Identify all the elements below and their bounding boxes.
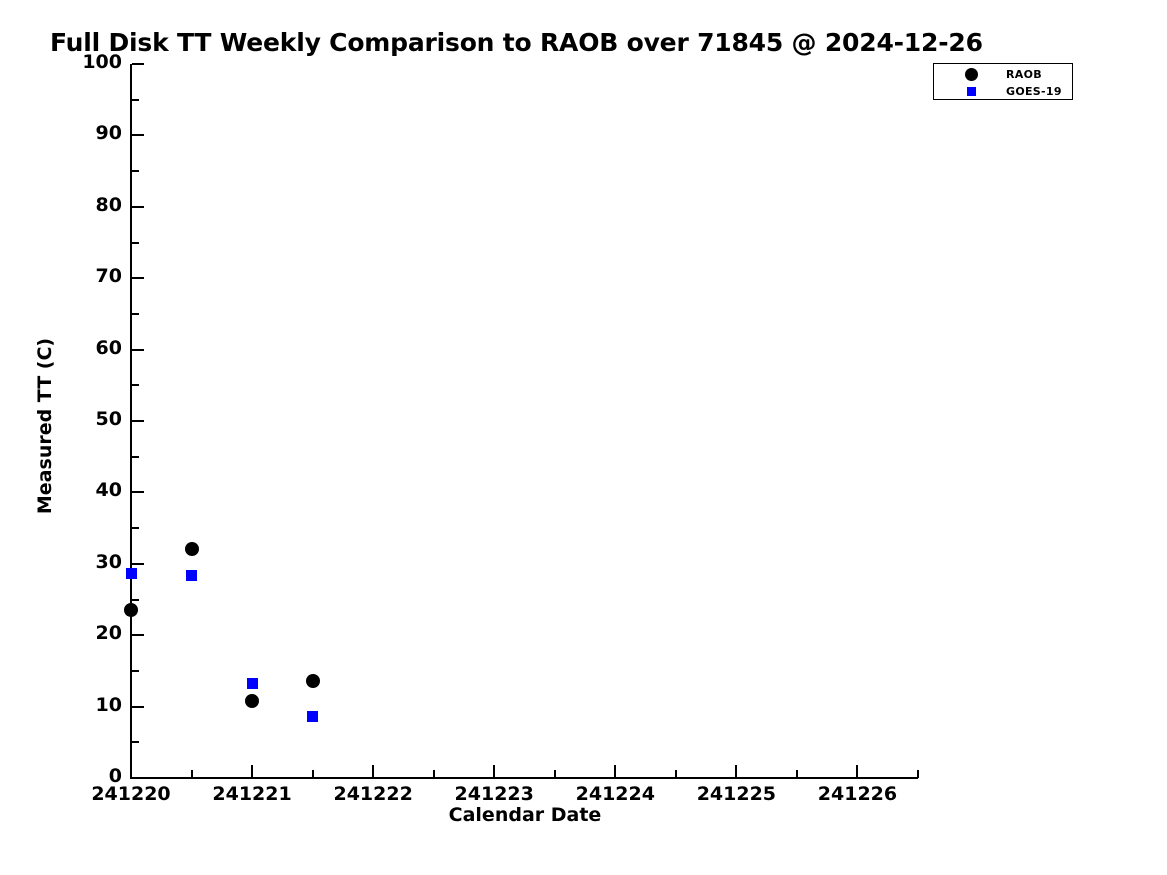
- y-tick-label: 90: [60, 122, 122, 144]
- black-circle-marker-icon: [962, 67, 980, 83]
- x-tick-label: 241223: [424, 783, 564, 805]
- x-axis-label: Calendar Date: [0, 804, 1050, 826]
- x-tick-label: 241225: [666, 783, 806, 805]
- legend-entry[interactable]: RAOB: [934, 67, 1072, 83]
- legend-label: RAOB: [1006, 68, 1042, 81]
- y-tick-label: 30: [60, 551, 122, 573]
- data-point-raob: [124, 603, 138, 617]
- x-tick-label: 241226: [787, 783, 927, 805]
- blue-square-marker-icon: [962, 84, 980, 100]
- x-tick-label: 241221: [182, 783, 322, 805]
- data-point-goes-19: [126, 568, 137, 579]
- y-axis-label: Measured TT (C): [34, 26, 56, 826]
- chart-legend: RAOBGOES-19: [933, 63, 1073, 100]
- x-tick-label: 241222: [303, 783, 443, 805]
- legend-entry[interactable]: GOES-19: [934, 84, 1072, 100]
- data-point-goes-19: [247, 678, 258, 689]
- y-tick-label: 70: [60, 265, 122, 287]
- y-tick-label: 40: [60, 479, 122, 501]
- x-tick-label: 241224: [545, 783, 685, 805]
- y-tick-label: 100: [60, 51, 122, 73]
- data-point-raob: [245, 694, 259, 708]
- black-circle-marker-icon-glyph: [965, 68, 978, 81]
- data-point-goes-19: [186, 570, 197, 581]
- blue-square-marker-icon-glyph: [967, 87, 976, 96]
- y-tick-label: 50: [60, 408, 122, 430]
- chart-title: Full Disk TT Weekly Comparison to RAOB o…: [50, 28, 983, 57]
- y-tick-label: 10: [60, 694, 122, 716]
- data-point-goes-19: [307, 711, 318, 722]
- data-point-raob: [185, 542, 199, 556]
- legend-label: GOES-19: [1006, 85, 1062, 98]
- x-tick-label: 241220: [61, 783, 201, 805]
- y-tick-label: 80: [60, 194, 122, 216]
- plot-area: [131, 64, 918, 778]
- y-tick-label: 20: [60, 622, 122, 644]
- y-tick-label: 60: [60, 337, 122, 359]
- chart-figure: Full Disk TT Weekly Comparison to RAOB o…: [0, 0, 1167, 875]
- data-point-raob: [306, 674, 320, 688]
